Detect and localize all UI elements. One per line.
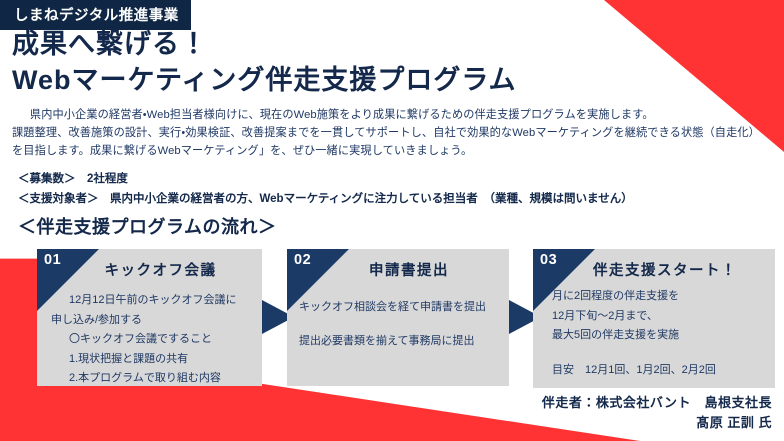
flow-step-card-02: 02 申請書提出 キックオフ相談会を経て申請書を提出 提出必要書類を揃えて事務局…	[287, 249, 509, 386]
lead-line-1: 県内中小企業の経営者・Web担当者様向けに、現在のWeb施策をより成果に繋げるた…	[12, 106, 774, 124]
recruitment-count-row: ＜募集数＞ 2社程度	[18, 170, 633, 190]
page-title-line-2: Webマーケティング伴走支援プログラム	[12, 63, 517, 99]
step-body-line: 提出必要書類を揃えて事務局に提出	[299, 333, 499, 351]
step-body-line: 最大5回の伴走支援を実施	[552, 326, 765, 346]
step-body-line: 12月12日午前のキックオフ会議に	[51, 291, 252, 311]
flow-step-card-03: 03 伴走支援スタート！ 月に2回程度の伴走支援を 12月下旬～2月まで、 最大…	[533, 249, 775, 388]
step-body-line: 1.現状把握と課題の共有	[51, 350, 252, 370]
step-body-line: 申し込み/参加する	[51, 311, 252, 331]
recruitment-details: ＜募集数＞ 2社程度 ＜支援対象者＞ 県内中小企業の経営者の方、Webマーケティ…	[18, 170, 633, 210]
step-title-01: キックオフ会議	[37, 259, 262, 280]
facilitator-name-line: 髙原 正訓 氏	[542, 413, 772, 433]
flow-section-heading: ＜伴走支援プログラムの流れ＞	[18, 213, 276, 239]
lead-line-3: を目指します。成果に繋げるWebマーケティング」を、ぜひ一緒に実現していきましょ…	[12, 142, 774, 160]
step-title-02: 申請書提出	[287, 259, 509, 280]
step-body-02: キックオフ相談会を経て申請書を提出 提出必要書類を揃えて事務局に提出	[287, 299, 509, 350]
step-body-03: 月に2回程度の伴走支援を 12月下旬～2月まで、 最大5回の伴走支援を実施 目安…	[533, 287, 775, 380]
step-body-line: 2.本プログラムで取り組む内容	[51, 369, 252, 386]
step-body-line: 12月下旬～2月まで、	[552, 307, 765, 327]
program-category-badge: しまねデジタル推進事業	[0, 0, 191, 30]
step-body-line: 月に2回程度の伴走支援を	[552, 287, 765, 307]
facilitator-credit: 伴走者：株式会社バント 島根支社長 髙原 正訓 氏	[542, 393, 772, 433]
poster-canvas: しまねデジタル推進事業 成果へ繋げる！ Webマーケティング伴走支援プログラム …	[0, 0, 784, 441]
step-title-03: 伴走支援スタート！	[533, 259, 775, 280]
step-body-01: 12月12日午前のキックオフ会議に 申し込み/参加する 〇キックオフ会議でするこ…	[37, 291, 262, 386]
lead-line-2: 課題整理、改善施策の設計、実行・効果検証、改善提案までを一貫してサポートし、自社…	[12, 124, 774, 142]
recruitment-target-row: ＜支援対象者＞ 県内中小企業の経営者の方、Webマーケティングに注力している担当…	[18, 190, 633, 210]
spacer	[299, 317, 499, 333]
step-body-line: 目安 12月1回、1月2回、2月2回	[552, 361, 765, 381]
flow-steps: 01 キックオフ会議 12月12日午前のキックオフ会議に 申し込み/参加する 〇…	[0, 249, 784, 389]
spacer	[552, 346, 765, 361]
step-body-line: 〇キックオフ会議ですること	[51, 330, 252, 350]
page-title: 成果へ繋げる！ Webマーケティング伴走支援プログラム	[12, 27, 517, 99]
page-title-line-1: 成果へ繋げる！	[12, 27, 517, 63]
lead-paragraph: 県内中小企業の経営者・Web担当者様向けに、現在のWeb施策をより成果に繋げるた…	[12, 106, 774, 160]
facilitator-company-line: 伴走者：株式会社バント 島根支社長	[542, 393, 772, 413]
step-body-line: キックオフ相談会を経て申請書を提出	[299, 299, 499, 317]
flow-step-card-01: 01 キックオフ会議 12月12日午前のキックオフ会議に 申し込み/参加する 〇…	[37, 249, 262, 386]
